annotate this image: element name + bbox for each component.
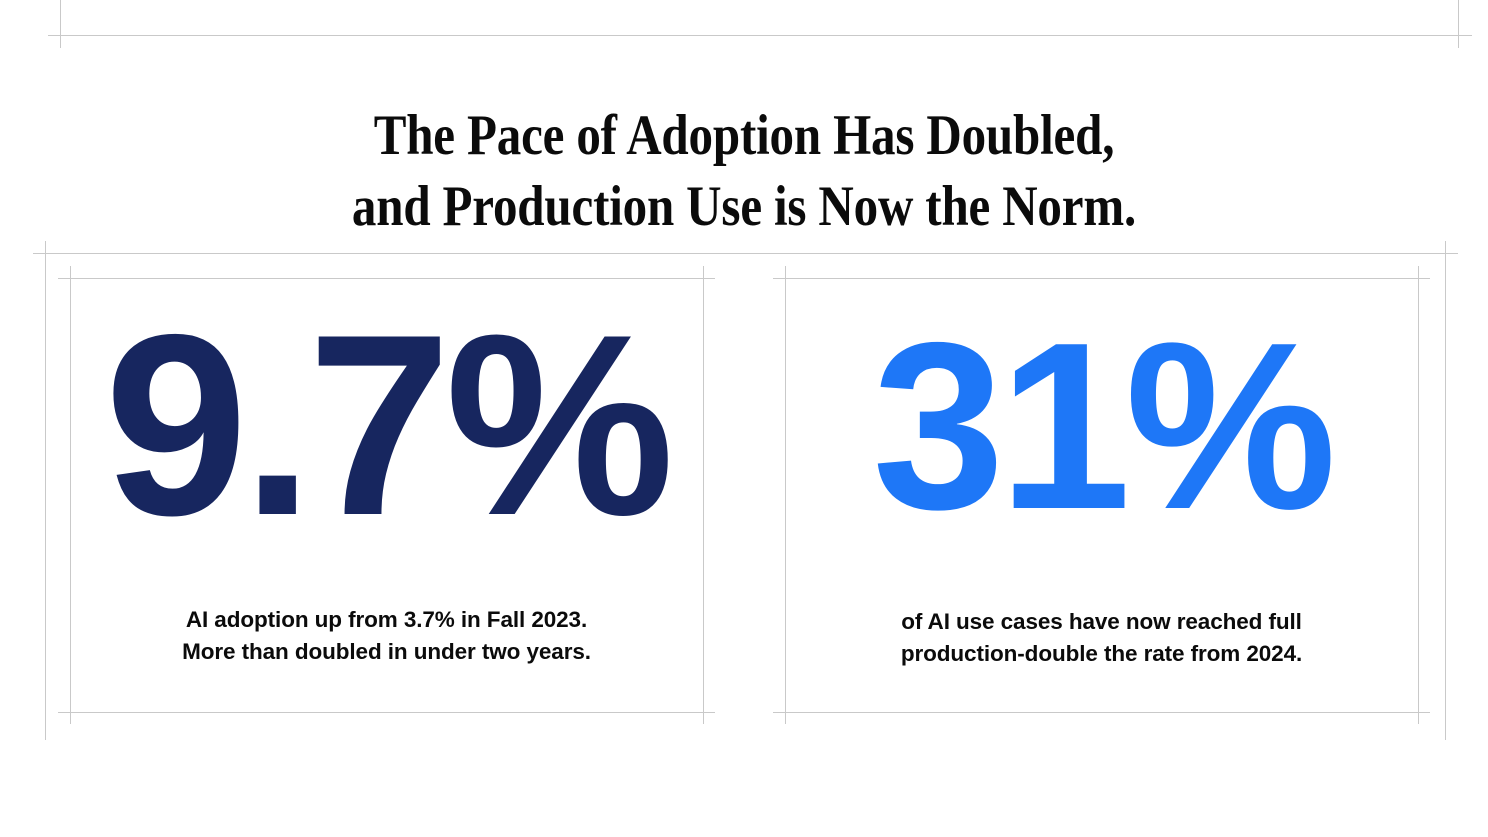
slide-headline: The Pace of Adoption Has Doubled, and Pr… [104, 100, 1384, 242]
stat-caption-line-2: production-double the rate from 2024. [785, 638, 1418, 670]
crop-mark-top-horizontal [48, 35, 1458, 36]
infographic-slide: The Pace of Adoption Has Doubled, and Pr… [0, 0, 1488, 837]
outer-frame-right-guide [1445, 241, 1446, 740]
stat-value-ai-adoption-rate: 9.7% [104, 296, 668, 554]
stat-caption-line-2: More than doubled in under two years. [70, 636, 703, 668]
headline-line-2: and Production Use is Now the Norm. [104, 171, 1384, 242]
panel-left-frame-bottom-guide [58, 712, 715, 713]
panel-right-frame-right-guide [1418, 266, 1419, 724]
outer-frame-left-guide [45, 241, 46, 740]
stat-caption-production-use-cases: of AI use cases have now reached full pr… [785, 606, 1418, 670]
crop-mark-top-right-vertical [1458, 0, 1459, 48]
stat-caption-ai-adoption-rate: AI adoption up from 3.7% in Fall 2023. M… [70, 604, 703, 668]
crop-mark-top-right-horizontal [1458, 35, 1472, 36]
panel-left-frame-right-guide [703, 266, 704, 724]
stat-panel-production-use-cases: 31% of AI use cases have now reached ful… [785, 278, 1418, 712]
outer-frame-top-guide [33, 253, 1458, 254]
stat-value-production-use-cases: 31% [872, 308, 1330, 546]
headline-line-1: The Pace of Adoption Has Doubled, [104, 100, 1384, 171]
stat-panel-ai-adoption-rate: 9.7% AI adoption up from 3.7% in Fall 20… [70, 278, 703, 712]
stat-caption-line-1: AI adoption up from 3.7% in Fall 2023. [70, 604, 703, 636]
crop-mark-top-left-vertical [60, 0, 61, 48]
stat-caption-line-1: of AI use cases have now reached full [785, 606, 1418, 638]
panel-right-frame-bottom-guide [773, 712, 1430, 713]
